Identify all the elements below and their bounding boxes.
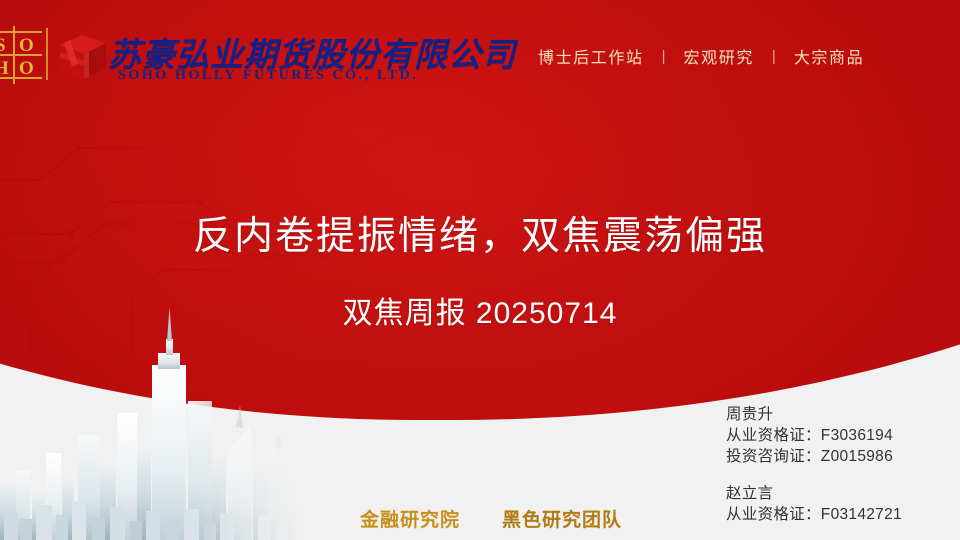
gift-box-icon: [56, 27, 110, 83]
author-name: 赵立言: [726, 483, 902, 504]
author-credentials-block: 周贵升 从业资格证：F3036194 投资咨询证：Z0015986 赵立言 从业…: [726, 404, 902, 540]
author-entry: 赵立言 从业资格证：F03142721: [726, 483, 902, 525]
author-advisory-cert: 投资咨询证：Z0015986: [726, 446, 902, 467]
header-bar: S O H O 苏豪弘业期货股份有限公司 SOHO HOLLY FUTURES: [0, 0, 960, 100]
company-name-english: SOHO HOLLY FUTURES CO., LTD.: [118, 68, 418, 84]
footer-department-label: 金融研究院: [360, 505, 460, 532]
slide-subtitle: 双焦周报 20250714: [0, 288, 960, 332]
footer-team-label: 黑色研究团队: [502, 505, 622, 532]
nav-item-commodities[interactable]: 大宗商品: [776, 44, 882, 68]
nav-separator-2: |: [772, 48, 776, 65]
slide-root: S O H O 苏豪弘业期货股份有限公司 SOHO HOLLY FUTURES: [0, 0, 960, 540]
svg-text:O: O: [19, 58, 34, 79]
author-qualification-cert: 从业资格证：F03142721: [726, 504, 902, 525]
logo-divider: [46, 28, 48, 80]
nav-separator-1: |: [662, 48, 666, 65]
svg-text:H: H: [0, 58, 9, 79]
nav-item-postdoc-station[interactable]: 博士后工作站: [520, 44, 662, 68]
slide-title: 反内卷提振情绪，双焦震荡偏强: [0, 205, 960, 261]
svg-text:O: O: [19, 35, 34, 56]
svg-text:S: S: [0, 35, 6, 56]
header-navigation: 博士后工作站 | 宏观研究 | 大宗商品: [520, 44, 882, 68]
author-entry: 周贵升 从业资格证：F3036194 投资咨询证：Z0015986: [726, 404, 902, 467]
author-qualification-cert: 从业资格证：F3036194: [726, 425, 902, 446]
soho-logo-icon: S O H O: [0, 26, 42, 84]
nav-item-macro-research[interactable]: 宏观研究: [666, 44, 772, 68]
author-name: 周贵升: [726, 404, 902, 425]
footer-department-row: 金融研究院 黑色研究团队: [360, 505, 622, 532]
